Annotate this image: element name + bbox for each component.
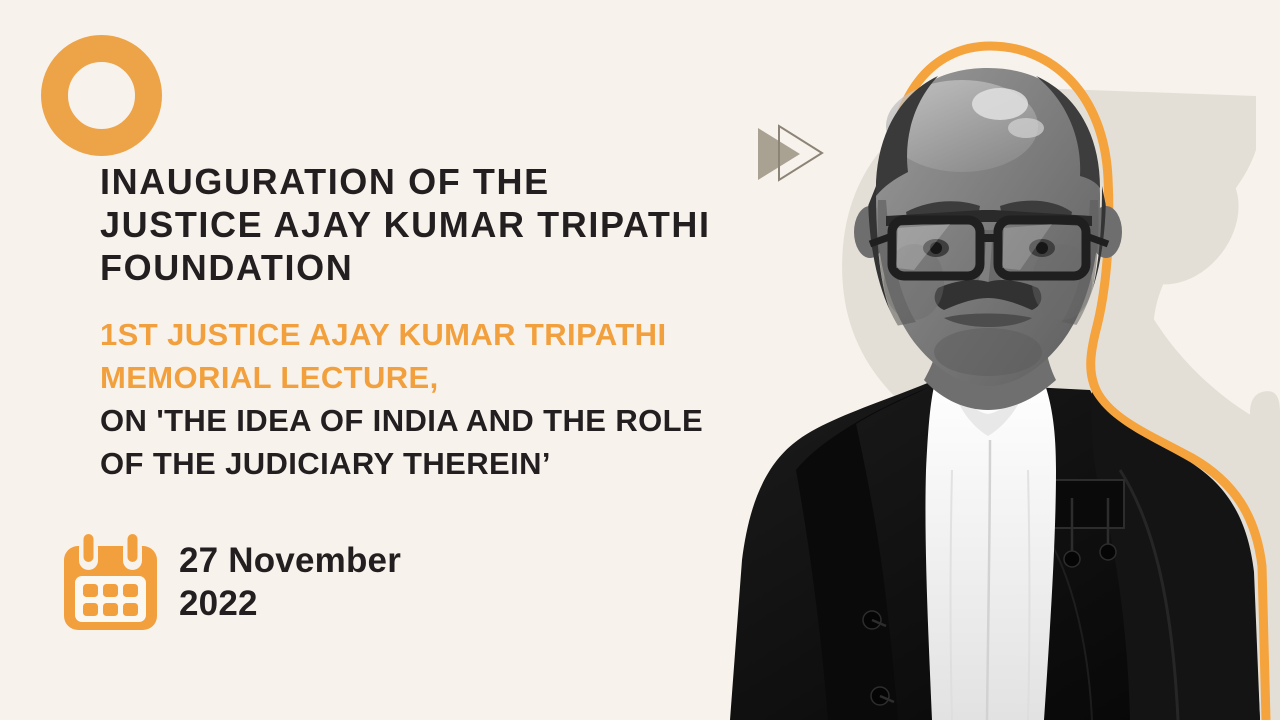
page-title-line-2: JUSTICE AJAY KUMAR TRIPATHI bbox=[100, 203, 820, 246]
event-date-year: 2022 bbox=[179, 582, 401, 625]
subtitle-block: 1ST JUSTICE AJAY KUMAR TRIPATHI MEMORIAL… bbox=[100, 313, 820, 485]
page-title-line-3: FOUNDATION bbox=[100, 246, 820, 289]
orange-ring-logo-icon bbox=[41, 35, 162, 156]
poster-text-block: INAUGURATION OF THE JUSTICE AJAY KUMAR T… bbox=[100, 160, 820, 485]
subtitle-line-1: 1ST JUSTICE AJAY KUMAR TRIPATHI bbox=[100, 313, 820, 356]
event-date-row: 27 November 2022 bbox=[62, 532, 401, 632]
event-poster: INAUGURATION OF THE JUSTICE AJAY KUMAR T… bbox=[0, 0, 1280, 720]
calendar-icon bbox=[62, 532, 159, 632]
event-date-day-month: 27 November bbox=[179, 539, 401, 582]
subtitle-line-3: ON 'THE IDEA OF INDIA AND THE ROLE bbox=[100, 399, 820, 442]
subtitle-line-4: OF THE JUDICIARY THEREIN’ bbox=[100, 442, 820, 485]
portrait-head bbox=[854, 68, 1122, 386]
subtitle-line-2: MEMORIAL LECTURE, bbox=[100, 356, 820, 399]
event-date-text: 27 November 2022 bbox=[179, 539, 401, 625]
judicial-bands bbox=[925, 376, 1056, 720]
page-title-line-1: INAUGURATION OF THE bbox=[100, 160, 820, 203]
